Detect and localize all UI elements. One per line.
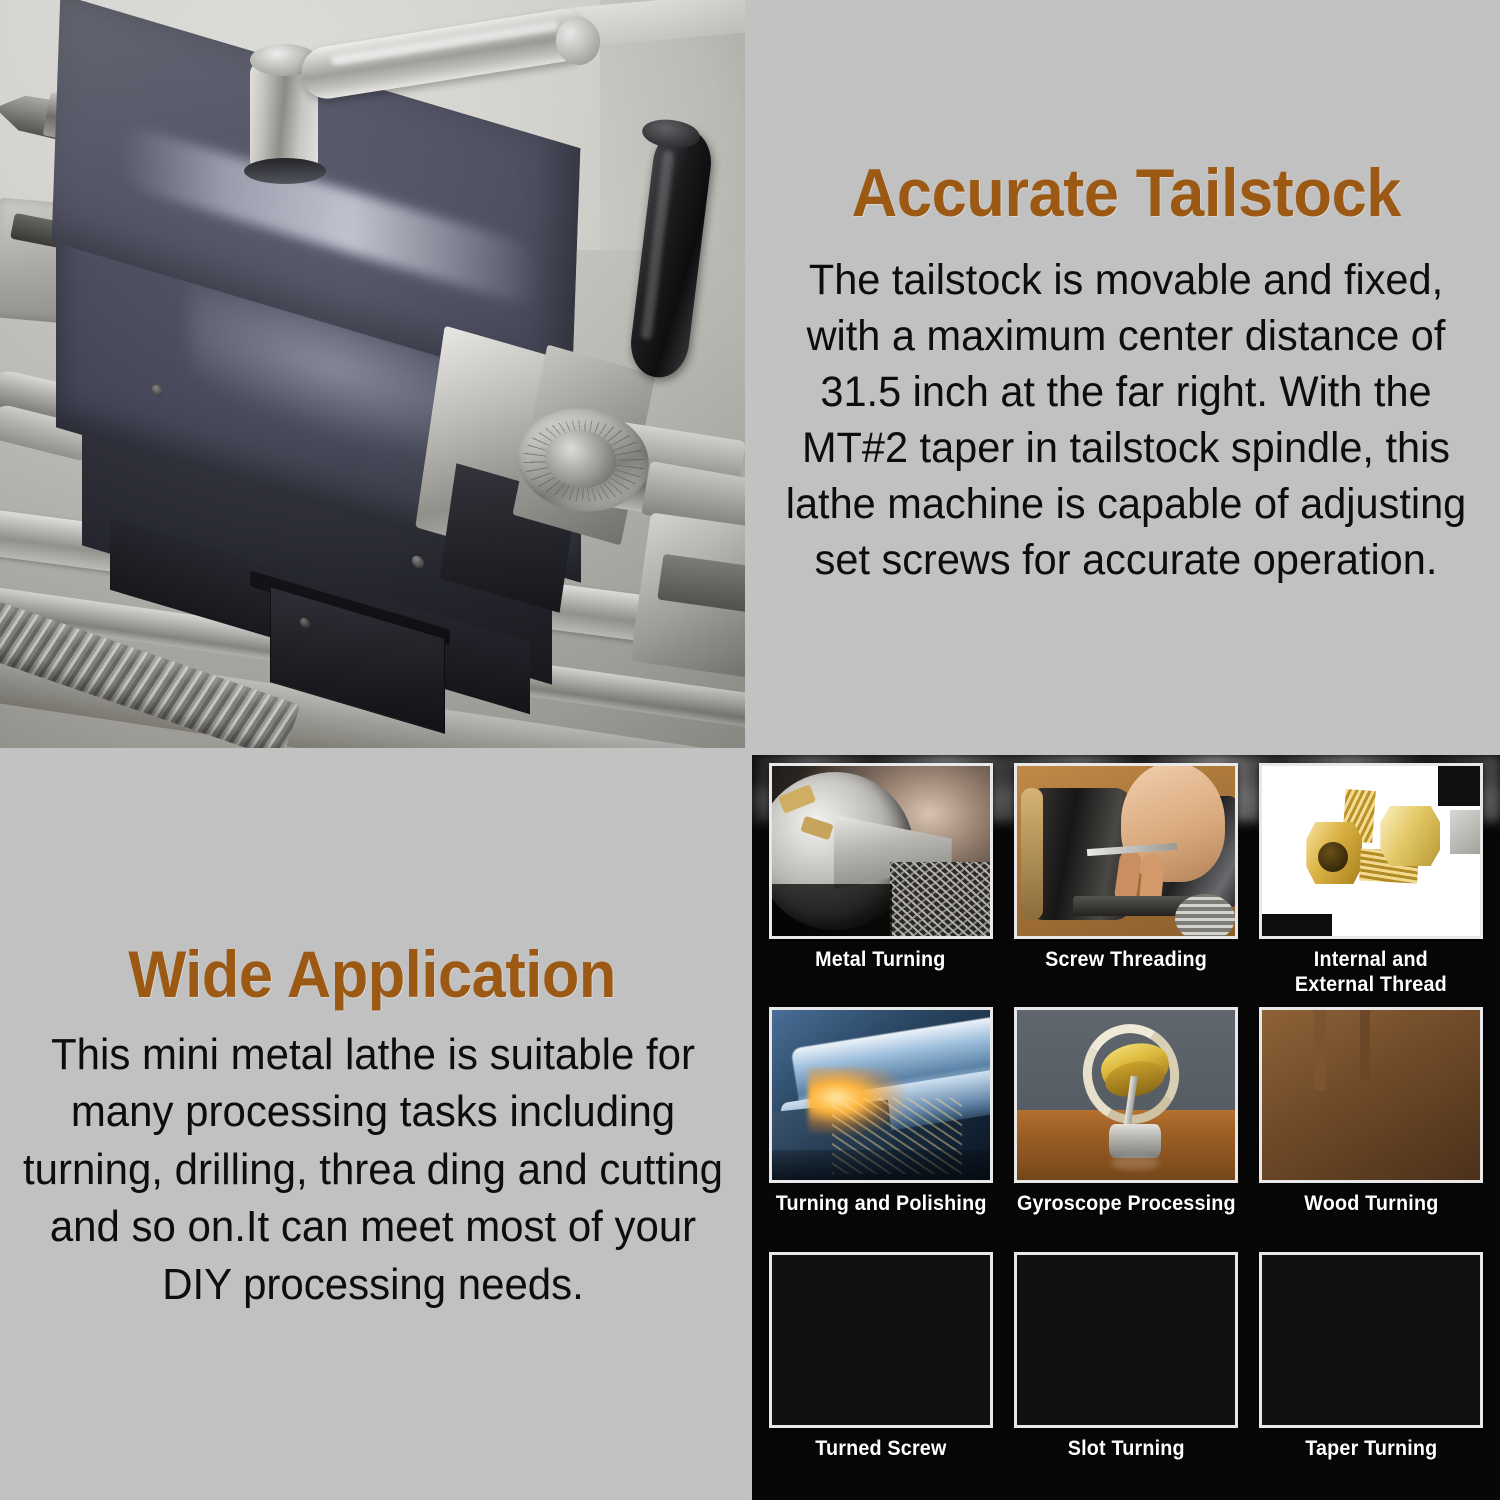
thumbnail-wood-turning (1259, 1007, 1483, 1183)
application-body-text: This mini metal lathe is suitable for ma… (14, 1027, 730, 1314)
lathe-tailstock-illustration (0, 0, 745, 748)
caption-metal-turning: Metal Turning (815, 948, 945, 973)
thumbnail-metal-turning (769, 763, 993, 939)
grid-cell-internal-external-thread: Internal and External Thread (1249, 763, 1494, 1007)
grid-cell-wood-turning: Wood Turning (1249, 1007, 1494, 1251)
infographic-page: Accurate Tailstock The tailstock is mova… (0, 0, 1500, 1500)
grid-cell-slot-turning: Slot Turning (1003, 1252, 1248, 1496)
grid-cell-turned-screw: Turned Screw (758, 1252, 1003, 1496)
grid-cell-turning-and-polishing: Turning and Polishing (758, 1007, 1003, 1251)
caption-slot-turning: Slot Turning (1067, 1437, 1184, 1462)
tailstock-product-photo (0, 0, 745, 748)
grid-cell-gyroscope-processing: Gyroscope Processing (1003, 1007, 1248, 1251)
tailstock-body-text: The tailstock is movable and fixed, with… (769, 253, 1483, 588)
caption-turned-screw: Turned Screw (815, 1437, 946, 1462)
tailstock-headline: Accurate Tailstock (851, 159, 1400, 227)
application-text-panel: Wide Application This mini metal lathe i… (0, 755, 745, 1500)
caption-screw-threading: Screw Threading (1045, 948, 1207, 973)
application-image-grid: Metal Turning Screw Threading Internal a… (752, 755, 1500, 1500)
grid-cell-taper-turning: Taper Turning (1249, 1252, 1494, 1496)
grid-cell-screw-threading: Screw Threading (1003, 763, 1248, 1007)
caption-wood-turning: Wood Turning (1304, 1192, 1438, 1217)
thumbnail-gyroscope-processing (1014, 1007, 1238, 1183)
thumbnail-taper-turning (1259, 1252, 1483, 1428)
application-headline: Wide Application (129, 941, 617, 1007)
caption-gyroscope-processing: Gyroscope Processing (1017, 1192, 1236, 1217)
tailstock-text-panel: Accurate Tailstock The tailstock is mova… (752, 0, 1500, 748)
thumbnail-internal-external-thread (1259, 763, 1483, 939)
thumbnail-turned-screw (769, 1252, 993, 1428)
thumbnail-screw-threading (1014, 763, 1238, 939)
caption-taper-turning: Taper Turning (1305, 1437, 1437, 1462)
grid-cell-metal-turning: Metal Turning (758, 763, 1003, 1007)
caption-turning-and-polishing: Turning and Polishing (775, 1192, 986, 1217)
caption-internal-external-thread: Internal and External Thread (1295, 948, 1447, 998)
thumbnail-turning-and-polishing (769, 1007, 993, 1183)
thumbnail-slot-turning (1014, 1252, 1238, 1428)
